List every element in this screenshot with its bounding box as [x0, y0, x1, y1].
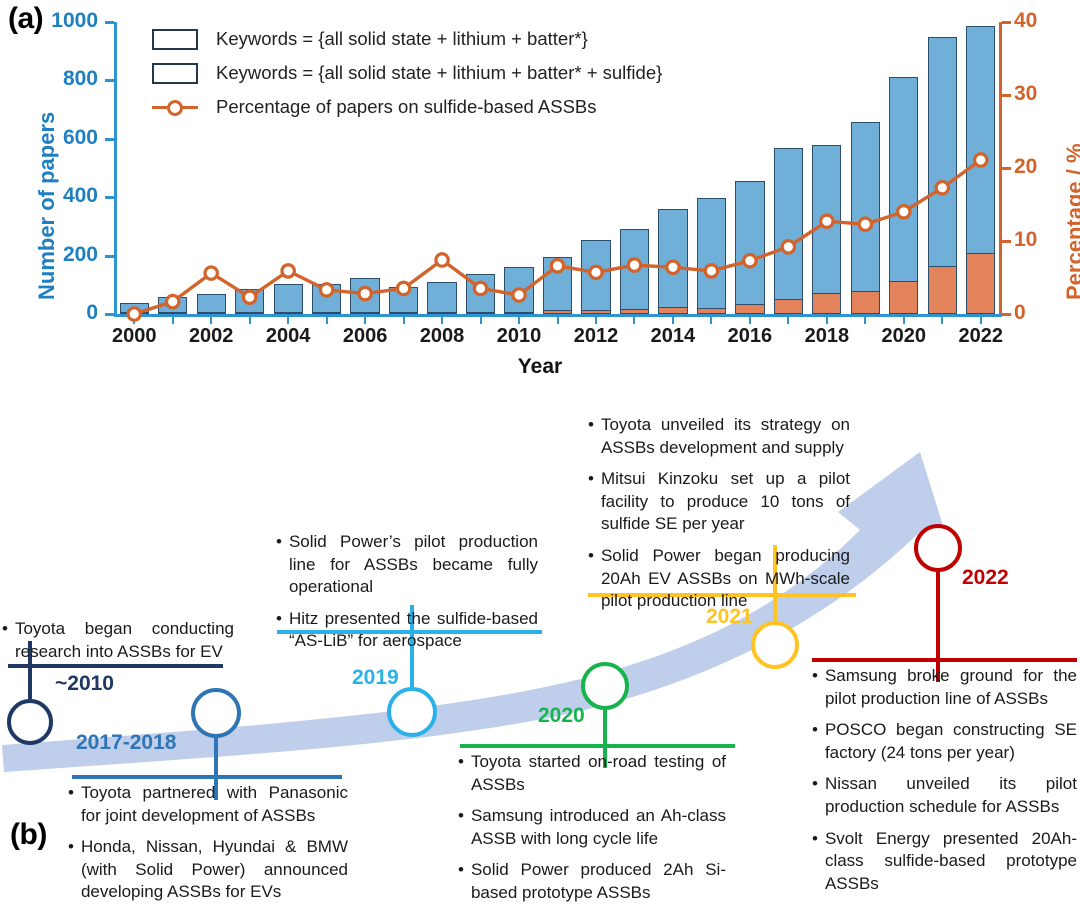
y-tick-right-30: [1002, 94, 1011, 97]
percentage-marker: [359, 287, 371, 299]
bullet-icon: •: [68, 836, 74, 904]
y-tick-label-left-400: 400: [8, 184, 98, 208]
timeline-rule: [812, 658, 1077, 662]
timeline-event-item: •Nissan unveiled its pilot production sc…: [812, 773, 1077, 818]
x-tick-2002: [210, 317, 212, 324]
y-tick-label-left-600: 600: [8, 126, 98, 150]
x-tick-2022: [980, 317, 982, 324]
y-tick-label-right-40: 40: [1014, 9, 1080, 33]
timeline-event-text: Nissan unveiled its pilot production sch…: [825, 773, 1077, 818]
y-tick-label-right-10: 10: [1014, 228, 1080, 252]
timeline-year-label: 2020: [538, 704, 585, 728]
timeline-event-text: Solid Power began producing 20Ah EV ASSB…: [601, 545, 850, 613]
timeline-event-text: Toyota began conducting research into AS…: [15, 618, 234, 663]
timeline-rule: [72, 775, 342, 779]
percentage-marker: [898, 206, 910, 218]
timeline-year-label: 2017-2018: [76, 731, 176, 755]
percentage-marker: [436, 254, 448, 266]
timeline-event-text: POSCO began constructing SE factory (24 …: [825, 719, 1077, 764]
x-tick-2007: [403, 317, 405, 324]
x-axis-title: Year: [0, 355, 1080, 379]
timeline-event-text: Svolt Energy presented 20Ah-class sulfid…: [825, 828, 1077, 896]
percentage-marker: [590, 266, 602, 278]
timeline-event-item: •Solid Power produced 2Ah Si-based proto…: [458, 859, 726, 904]
x-tick-2012: [595, 317, 597, 324]
timeline-event-list: •Toyota started on-road testing of ASSBs…: [458, 751, 726, 914]
timeline-event-text: Toyota unveiled its strategy on ASSBs de…: [601, 414, 850, 459]
bullet-icon: •: [812, 719, 818, 764]
percentage-marker: [128, 308, 140, 320]
x-tick-2011: [557, 317, 559, 324]
timeline-event-text: Toyota partnered with Panasonic for join…: [81, 782, 348, 827]
x-tick-2003: [249, 317, 251, 324]
timeline-event-text: Toyota started on-road testing of ASSBs: [471, 751, 726, 796]
x-tick-2008: [441, 317, 443, 324]
bullet-icon: •: [276, 531, 282, 599]
percentage-marker: [975, 154, 987, 166]
x-tick-2019: [864, 317, 866, 324]
legend-item-0: Keywords = {all solid state + lithium + …: [152, 22, 662, 56]
percentage-marker: [513, 289, 525, 301]
timeline-event-list: •Toyota unveiled its strategy on ASSBs d…: [588, 414, 850, 622]
timeline-event-item: •Samsung broke ground for the pilot prod…: [812, 665, 1077, 710]
timeline-event-list: •Samsung broke ground for the pilot prod…: [812, 665, 1077, 904]
legend-label-0: Keywords = {all solid state + lithium + …: [216, 28, 588, 50]
y-tick-right-20: [1002, 167, 1011, 170]
bullet-icon: •: [588, 414, 594, 459]
legend-swatch-blue: [152, 29, 198, 50]
x-tick-2015: [710, 317, 712, 324]
y-tick-label-left-800: 800: [8, 67, 98, 91]
y-tick-right-40: [1002, 21, 1011, 24]
timeline-year-label: 2022: [962, 566, 1009, 590]
percentage-marker: [744, 255, 756, 267]
legend-label-2: Percentage of papers on sulfide-based AS…: [216, 96, 597, 118]
timeline-event-text: Honda, Nissan, Hyundai & BMW (with Solid…: [81, 836, 348, 904]
percentage-marker: [474, 282, 486, 294]
percentage-marker: [320, 284, 332, 296]
timeline-event-text: Samsung broke ground for the pilot produ…: [825, 665, 1077, 710]
x-tick-2021: [941, 317, 943, 324]
bullet-icon: •: [812, 773, 818, 818]
y-tick-left-400: [105, 196, 114, 199]
percentage-marker: [205, 267, 217, 279]
percentage-marker: [705, 265, 717, 277]
timeline-event-item: •Honda, Nissan, Hyundai & BMW (with Soli…: [68, 836, 348, 904]
timeline-event-list: •Solid Power’s pilot production line for…: [276, 531, 538, 662]
timeline-node-20172018[interactable]: [191, 688, 241, 738]
timeline-event-text: Mitsui Kinzoku set up a pilot facility t…: [601, 468, 850, 536]
timeline-node-2020[interactable]: [581, 662, 629, 710]
percentage-marker: [397, 282, 409, 294]
y-tick-left-1000: [105, 21, 114, 24]
percentage-marker: [282, 265, 294, 277]
timeline-node-2019[interactable]: [387, 687, 437, 737]
timeline-event-text: Solid Power’s pilot production line for …: [289, 531, 538, 599]
x-tick-2014: [672, 317, 674, 324]
percentage-marker: [667, 261, 679, 273]
x-tick-2006: [364, 317, 366, 324]
timeline-event-text: Samsung introduced an Ah-class ASSB with…: [471, 805, 726, 850]
timeline-node-2022[interactable]: [914, 524, 962, 572]
bullet-icon: •: [812, 665, 818, 710]
y-tick-left-200: [105, 255, 114, 258]
y-tick-left-800: [105, 79, 114, 82]
percentage-marker: [782, 241, 794, 253]
timeline-event-item: •Toyota started on-road testing of ASSBs: [458, 751, 726, 796]
bullet-icon: •: [458, 859, 464, 904]
y-tick-label-left-1000: 1000: [8, 9, 98, 33]
y-tick-label-left-200: 200: [8, 243, 98, 267]
timeline-rule: [460, 744, 735, 748]
legend-item-1: Keywords = {all solid state + lithium + …: [152, 56, 662, 90]
percentage-marker: [821, 215, 833, 227]
x-tick-2009: [480, 317, 482, 324]
y-tick-label-right-30: 30: [1014, 82, 1080, 106]
y-tick-label-left-0: 0: [8, 301, 98, 325]
timeline-event-item: •Solid Power’s pilot production line for…: [276, 531, 538, 599]
legend-label-1: Keywords = {all solid state + lithium + …: [216, 62, 662, 84]
bullet-icon: •: [588, 545, 594, 613]
bullet-icon: •: [458, 751, 464, 796]
timeline-event-item: •Hitz presented the sulfide-based “AS-Li…: [276, 608, 538, 653]
timeline-node-2021[interactable]: [751, 621, 799, 669]
timeline-event-item: •POSCO began constructing SE factory (24…: [812, 719, 1077, 764]
timeline-event-item: •Toyota partnered with Panasonic for joi…: [68, 782, 348, 827]
timeline-event-item: •Svolt Energy presented 20Ah-class sulfi…: [812, 828, 1077, 896]
x-tick-2016: [749, 317, 751, 324]
timeline-event-list: •Toyota began conducting research into A…: [2, 618, 234, 672]
timeline-event-list: •Toyota partnered with Panasonic for joi…: [68, 782, 348, 913]
timeline-event-text: Hitz presented the sulfide-based “AS-LiB…: [289, 608, 538, 653]
y-tick-right-10: [1002, 240, 1011, 243]
chart-panel-a: (a) Number of papers Percentage / % Year…: [0, 0, 1080, 400]
timeline-year-label: ~2010: [55, 672, 114, 696]
x-tick-2001: [172, 317, 174, 324]
percentage-marker: [551, 260, 563, 272]
x-tick-2005: [326, 317, 328, 324]
timeline-event-item: •Toyota began conducting research into A…: [2, 618, 234, 663]
timeline-node-2010[interactable]: [7, 699, 53, 745]
x-tick-2004: [287, 317, 289, 324]
x-tick-2013: [633, 317, 635, 324]
y-tick-left-600: [105, 138, 114, 141]
y-tick-right-0: [1002, 313, 1011, 316]
bullet-icon: •: [2, 618, 8, 663]
x-tick-2017: [787, 317, 789, 324]
legend-item-2: Percentage of papers on sulfide-based AS…: [152, 90, 662, 124]
bullet-icon: •: [588, 468, 594, 536]
timeline-event-item: •Mitsui Kinzoku set up a pilot facility …: [588, 468, 850, 536]
timeline-event-text: Solid Power produced 2Ah Si-based protot…: [471, 859, 726, 904]
percentage-marker: [936, 182, 948, 194]
timeline-year-label: 2019: [352, 666, 399, 690]
legend-swatch-orange: [152, 63, 198, 84]
y-tick-label-right-0: 0: [1014, 301, 1080, 325]
percentage-marker: [859, 218, 871, 230]
y-tick-left-0: [105, 313, 114, 316]
bullet-icon: •: [458, 805, 464, 850]
timeline-panel-b: (b) ~2010•Toyota began conducting resear…: [0, 400, 1080, 891]
timeline-event-item: •Toyota unveiled its strategy on ASSBs d…: [588, 414, 850, 459]
x-tick-2010: [518, 317, 520, 324]
x-tick-2020: [903, 317, 905, 324]
percentage-marker: [243, 291, 255, 303]
bullet-icon: •: [68, 782, 74, 827]
percentage-marker: [167, 295, 179, 307]
bullet-icon: •: [276, 608, 282, 653]
percentage-marker: [628, 259, 640, 271]
chart-legend: Keywords = {all solid state + lithium + …: [152, 22, 662, 124]
legend-line-marker-icon: [152, 97, 198, 118]
x-tick-label-2022: 2022: [936, 325, 1026, 348]
y-tick-label-right-20: 20: [1014, 155, 1080, 179]
timeline-event-item: •Solid Power began producing 20Ah EV ASS…: [588, 545, 850, 613]
x-tick-2018: [826, 317, 828, 324]
bullet-icon: •: [812, 828, 818, 896]
timeline-event-item: •Samsung introduced an Ah-class ASSB wit…: [458, 805, 726, 850]
